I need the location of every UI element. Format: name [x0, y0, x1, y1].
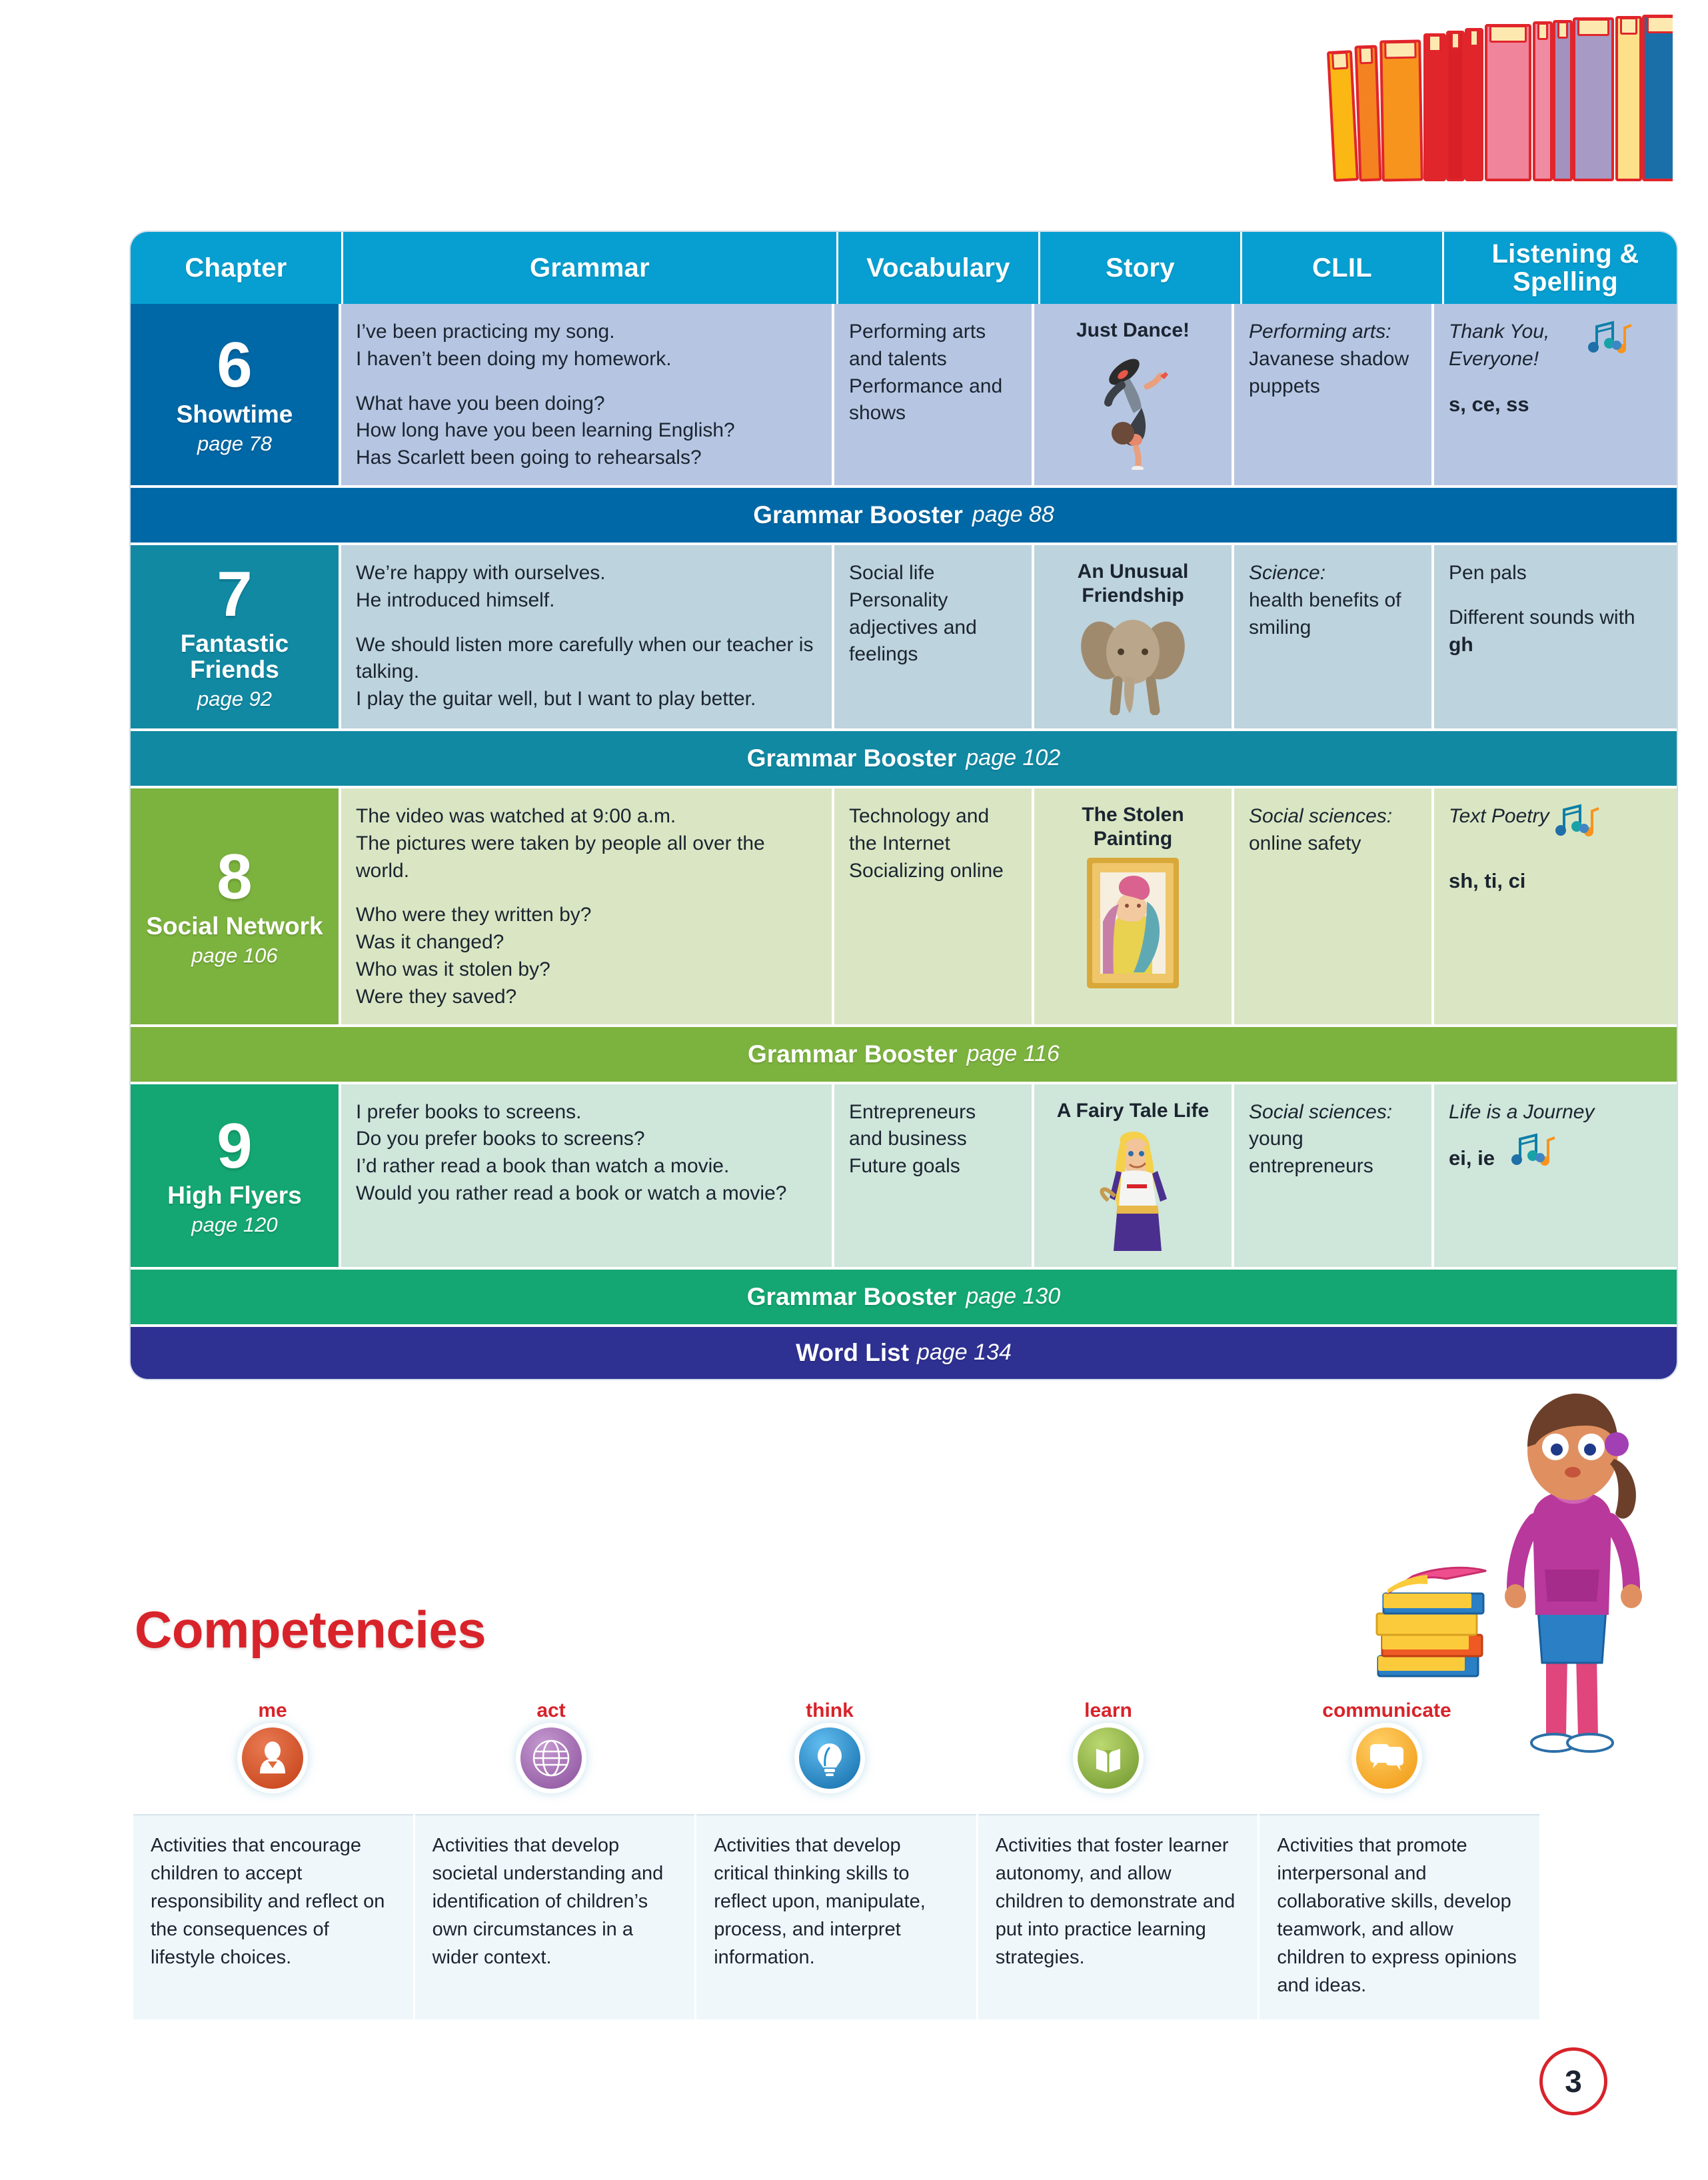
grammar-booster-band-88: Grammar Booster page 88: [131, 488, 1677, 545]
fairy-tale-girl: [1049, 1127, 1217, 1254]
vocabulary-line: feelings: [849, 641, 1017, 668]
person-head-icon: [242, 1727, 303, 1789]
competency-description-boxes: Activities that encourage children to ac…: [133, 1814, 1539, 2019]
vocabulary-line: the Internet: [849, 830, 1017, 858]
listening-title: Text Poetry: [1449, 803, 1549, 830]
table-row: 8 Social Network page 106 The video was …: [131, 788, 1677, 1027]
column-header-vocabulary: Vocabulary: [838, 232, 1040, 304]
chapter-cell-7: 7 Fantastic Friends page 92: [131, 545, 341, 731]
competency-description-communicate: Activities that promote interpersonal an…: [1260, 1814, 1539, 2019]
chapter-name: Showtime: [177, 401, 293, 428]
speech-bubbles-icon: [1356, 1727, 1417, 1789]
chapter-page: page 120: [191, 1213, 277, 1237]
word-list-page: page 134: [917, 1340, 1012, 1366]
competency-word: learn: [1084, 1699, 1132, 1726]
vocabulary-line: Social life: [849, 560, 1017, 587]
grammar-cell-6: I’ve been practicing my song. I haven’t …: [341, 304, 834, 488]
competency-word: act: [536, 1699, 565, 1726]
booster-label: Grammar Booster: [753, 501, 963, 529]
clil-cell-9: Social sciences: young entrepreneurs: [1234, 1084, 1434, 1270]
listening-spelling-cell-9: Life is a Journey ei, ie: [1434, 1084, 1677, 1270]
story-cell-9: A Fairy Tale Life: [1034, 1084, 1234, 1270]
story-title: An Unusual Friendship: [1049, 560, 1217, 608]
grammar-cell-7: We’re happy with ourselves. He introduce…: [341, 545, 834, 731]
clil-subject: Social sciences: [1249, 1101, 1387, 1123]
music-notes-icon: [1509, 1132, 1559, 1179]
grammar-cell-8: The video was watched at 9:00 a.m. The p…: [341, 788, 834, 1027]
story-title: The Stolen Painting: [1049, 803, 1217, 851]
vocabulary-line: Technology and: [849, 803, 1017, 830]
spelling-sounds: gh: [1449, 634, 1473, 656]
competency-icon-act[interactable]: act: [412, 1699, 690, 1813]
booster-label: Grammar Booster: [748, 1040, 958, 1068]
vocabulary-line: Personality: [849, 587, 1017, 614]
grammar-line: We should listen more carefully when our…: [356, 632, 817, 686]
grammar-line: Who was it stolen by?: [356, 956, 817, 984]
competency-description-learn: Activities that foster learner autonomy,…: [978, 1814, 1260, 2019]
grammar-booster-band-102: Grammar Booster page 102: [131, 731, 1677, 788]
story-title: A Fairy Tale Life: [1049, 1099, 1217, 1123]
grammar-line: We’re happy with ourselves.: [356, 560, 817, 587]
music-notes-icon: [1553, 803, 1603, 850]
vocabulary-line: Performance and: [849, 373, 1017, 401]
competency-description-me: Activities that encourage children to ac…: [133, 1814, 415, 2019]
competency-icon-think[interactable]: think: [690, 1699, 969, 1813]
framed-painting: [1049, 855, 1217, 992]
table-header-row: Chapter Grammar Vocabulary Story CLIL Li…: [131, 232, 1677, 304]
competency-word: me: [258, 1699, 287, 1726]
story-cell-6: Just Dance!: [1034, 304, 1234, 488]
chapter-name: High Flyers: [167, 1182, 302, 1209]
lightbulb-icon: [799, 1727, 860, 1789]
vocabulary-line: Performing arts: [849, 319, 1017, 346]
competency-word: think: [806, 1699, 854, 1726]
grammar-line: I play the guitar well, but I want to pl…: [356, 686, 817, 713]
chapter-cell-6: 6 Showtime page 78: [131, 304, 341, 488]
clil-cell-6: Performing arts: Javanese shadow puppets: [1234, 304, 1434, 488]
chapter-number: 9: [217, 1114, 252, 1178]
grammar-line: Would you rather read a book or watch a …: [356, 1180, 817, 1208]
grammar-line: Were they saved?: [356, 984, 817, 1011]
clil-topic: online safety: [1249, 830, 1417, 858]
vocabulary-line: Entrepreneurs: [849, 1099, 1017, 1126]
chapter-number: 8: [217, 845, 252, 909]
book-stack-illustration: [1373, 1556, 1499, 1689]
chapter-cell-9: 9 High Flyers page 120: [131, 1084, 341, 1270]
competencies-title: Competencies: [135, 1600, 486, 1660]
clil-topic: Javanese shadow puppets: [1249, 346, 1417, 401]
booster-page: page 102: [966, 745, 1060, 771]
booster-page: page 88: [972, 502, 1054, 528]
grammar-line: Was it changed?: [356, 929, 817, 956]
story-cell-8: The Stolen Painting: [1034, 788, 1234, 1027]
clil-cell-8: Social sciences: online safety: [1234, 788, 1434, 1027]
table-row: 7 Fantastic Friends page 92 We’re happy …: [131, 545, 1677, 731]
spelling-sounds: sh, ti, ci: [1449, 867, 1662, 895]
music-notes-icon: [1586, 319, 1635, 367]
chapter-name: Fantastic Friends: [136, 630, 333, 684]
vocabulary-cell-6: Performing arts and talents Performance …: [834, 304, 1034, 488]
elephant-photo: [1049, 612, 1217, 715]
chapter-page: page 92: [197, 687, 272, 711]
chapter-name: Social Network: [146, 913, 323, 940]
column-header-chapter: Chapter: [131, 232, 343, 304]
grammar-booster-band-130: Grammar Booster page 130: [131, 1270, 1677, 1327]
vocabulary-line: and business: [849, 1126, 1017, 1153]
clil-topic: young entrepreneurs: [1249, 1126, 1417, 1180]
grammar-line: I haven’t been doing my homework.: [356, 346, 817, 373]
listening-spelling-cell-8: Text Poetry sh, ti, ci: [1434, 788, 1677, 1027]
column-header-listening-spelling: Listening & Spelling: [1444, 232, 1677, 304]
grammar-line: What have you been doing?: [356, 391, 817, 418]
column-header-grammar: Grammar: [343, 232, 838, 304]
booster-page: page 116: [967, 1041, 1060, 1067]
chapter-number: 7: [217, 562, 252, 626]
booster-label: Grammar Booster: [747, 744, 957, 772]
clil-subject: Social sciences: [1249, 805, 1387, 827]
chapter-cell-8: 8 Social Network page 106: [131, 788, 341, 1027]
grammar-line: How long have you been learning English?: [356, 417, 817, 445]
column-header-story: Story: [1040, 232, 1242, 304]
booster-label: Grammar Booster: [747, 1283, 957, 1311]
column-header-clil: CLIL: [1242, 232, 1444, 304]
competency-icon-me[interactable]: me: [133, 1699, 412, 1813]
vocabulary-line: and talents: [849, 346, 1017, 373]
clil-subject: Performing arts: [1249, 321, 1385, 343]
booster-page: page 130: [966, 1284, 1060, 1310]
story-title: Just Dance!: [1049, 319, 1217, 343]
competency-icons-row: me act think learn communicate: [133, 1699, 1526, 1813]
listening-title: Pen pals: [1449, 560, 1662, 587]
vocabulary-line: Socializing online: [849, 858, 1017, 885]
vocabulary-cell-7: Social life Personality adjectives and f…: [834, 545, 1034, 731]
listening-title: Thank You, Everyone!: [1449, 319, 1582, 373]
grammar-line: Has Scarlett been going to rehearsals?: [356, 445, 817, 472]
chapter-page: page 106: [191, 944, 277, 968]
globe-icon: [520, 1727, 582, 1789]
vocabulary-line: Future goals: [849, 1153, 1017, 1180]
grammar-line: Do you prefer books to screens?: [356, 1126, 817, 1153]
competency-icon-learn[interactable]: learn: [969, 1699, 1248, 1813]
grammar-cell-9: I prefer books to screens. Do you prefer…: [341, 1084, 834, 1270]
table-row: 6 Showtime page 78 I’ve been practicing …: [131, 304, 1677, 488]
table-row: 9 High Flyers page 120 I prefer books to…: [131, 1084, 1677, 1270]
competency-word: communicate: [1322, 1699, 1451, 1726]
vocabulary-cell-8: Technology and the Internet Socializing …: [834, 788, 1034, 1027]
grammar-line: I’ve been practicing my song.: [356, 319, 817, 346]
spelling-sounds: s, ce, ss: [1449, 391, 1662, 419]
vocabulary-cell-9: Entrepreneurs and business Future goals: [834, 1084, 1034, 1270]
spelling-prefix: Different sounds with: [1449, 606, 1635, 628]
competency-icon-communicate[interactable]: communicate: [1248, 1699, 1526, 1813]
chapter-page: page 78: [197, 432, 272, 456]
grammar-line: The video was watched at 9:00 a.m.: [356, 803, 817, 830]
competency-description-think: Activities that develop critical thinkin…: [696, 1814, 978, 2019]
grammar-line: The pictures were taken by people all ov…: [356, 830, 817, 885]
clil-subject: Science: [1249, 562, 1320, 584]
listening-spelling-cell-7: Pen pals Different sounds with gh: [1434, 545, 1677, 731]
grammar-line: I’d rather read a book than watch a movi…: [356, 1153, 817, 1180]
clil-cell-7: Science: health benefits of smiling: [1234, 545, 1434, 731]
grammar-line: Who were they written by?: [356, 902, 817, 929]
open-book-icon: [1078, 1727, 1139, 1789]
story-cell-7: An Unusual Friendship: [1034, 545, 1234, 731]
grammar-booster-band-116: Grammar Booster page 116: [131, 1027, 1677, 1084]
word-list-label: Word List: [796, 1339, 909, 1367]
grammar-line: He introduced himself.: [356, 587, 817, 614]
clil-topic: health benefits of smiling: [1249, 587, 1417, 642]
chapter-number: 6: [217, 333, 252, 397]
scope-and-sequence-table: Chapter Grammar Vocabulary Story CLIL Li…: [131, 232, 1677, 1379]
competency-description-act: Activities that develop societal underst…: [415, 1814, 697, 2019]
word-list-band: Word List page 134: [131, 1327, 1677, 1379]
decorative-books-illustration: [1326, 0, 1673, 187]
listening-spelling-cell-6: Thank You, Everyone! s, ce, ss: [1434, 304, 1677, 488]
breakdancer-photo: [1049, 347, 1217, 470]
page-number-badge: 3: [1539, 2047, 1607, 2115]
grammar-line: I prefer books to screens.: [356, 1099, 817, 1126]
vocabulary-line: adjectives and: [849, 614, 1017, 642]
listening-title: Life is a Journey: [1449, 1099, 1662, 1126]
spelling-sounds: ei, ie: [1449, 1144, 1495, 1172]
vocabulary-line: shows: [849, 400, 1017, 427]
